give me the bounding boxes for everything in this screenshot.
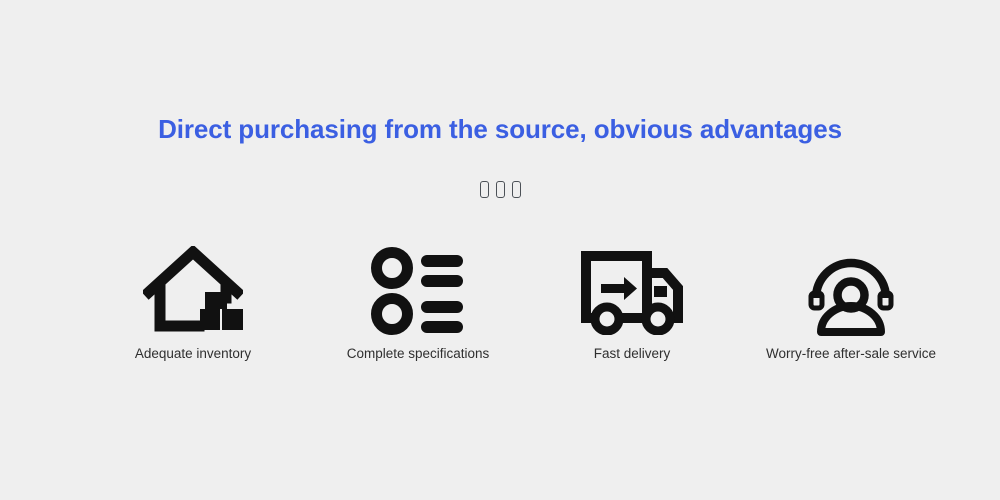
warehouse-inventory-icon [143, 243, 243, 341]
feature-label-support: Worry-free after-sale service [766, 345, 936, 363]
feature-item-delivery: Fast delivery [521, 243, 743, 363]
feature-list: Adequate inventory Complete specificatio… [0, 243, 1000, 363]
specification-list-icon [370, 243, 466, 341]
decorative-mark-2 [496, 181, 505, 198]
feature-item-specifications: Complete specifications [307, 243, 529, 363]
page-title: Direct purchasing from the source, obvio… [0, 114, 1000, 145]
feature-item-support: Worry-free after-sale service [740, 243, 962, 363]
decorative-divider [0, 181, 1000, 198]
headset-support-icon [804, 243, 898, 341]
feature-label-specifications: Complete specifications [347, 345, 490, 363]
feature-label-delivery: Fast delivery [594, 345, 671, 363]
decorative-mark-3 [512, 181, 521, 198]
feature-item-inventory: Adequate inventory [82, 243, 304, 363]
delivery-truck-icon [579, 243, 685, 341]
promo-banner: Direct purchasing from the source, obvio… [0, 0, 1000, 500]
feature-label-inventory: Adequate inventory [135, 345, 251, 363]
decorative-mark-1 [480, 181, 489, 198]
